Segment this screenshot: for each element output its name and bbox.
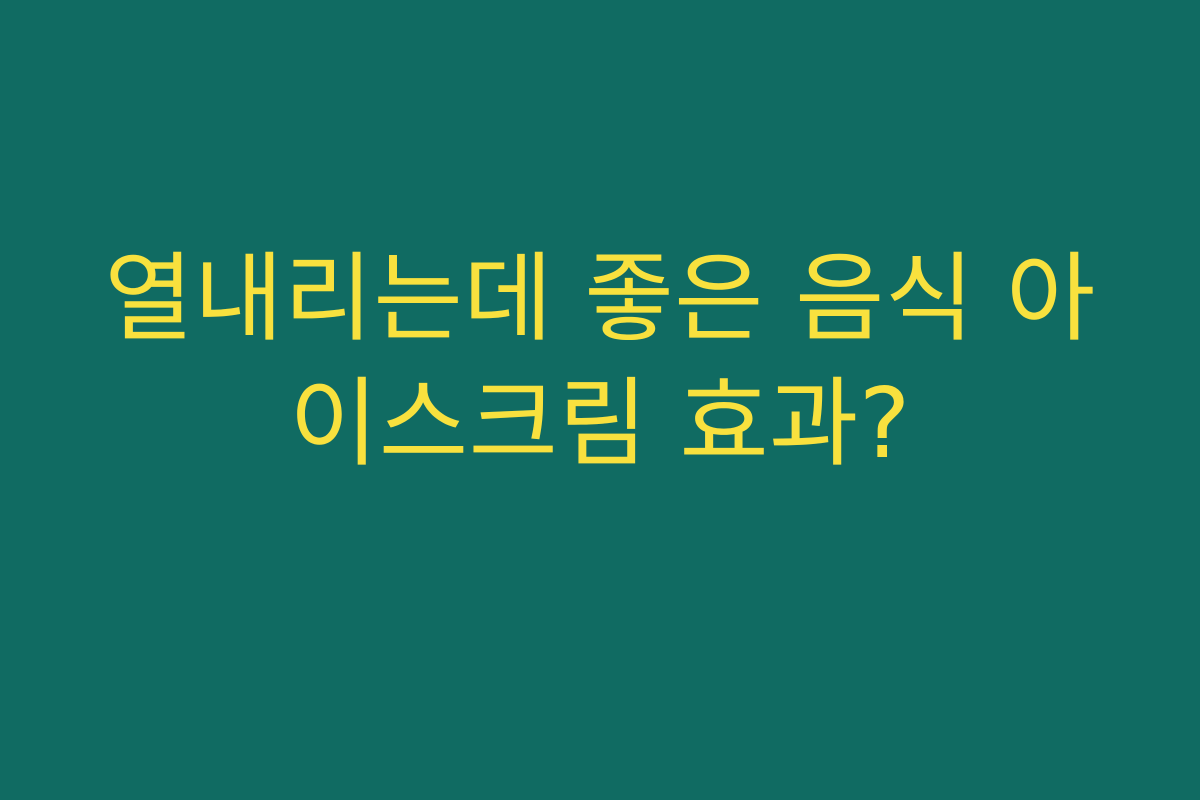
headline-line-2: 이스크림 효과? <box>70 361 1130 486</box>
headline-block: 열내리는데 좋은 음식 아 이스크림 효과? <box>0 0 1200 800</box>
text-card: 열내리는데 좋은 음식 아 이스크림 효과? <box>0 0 1200 800</box>
headline-line-1: 열내리는데 좋은 음식 아 <box>70 236 1130 361</box>
